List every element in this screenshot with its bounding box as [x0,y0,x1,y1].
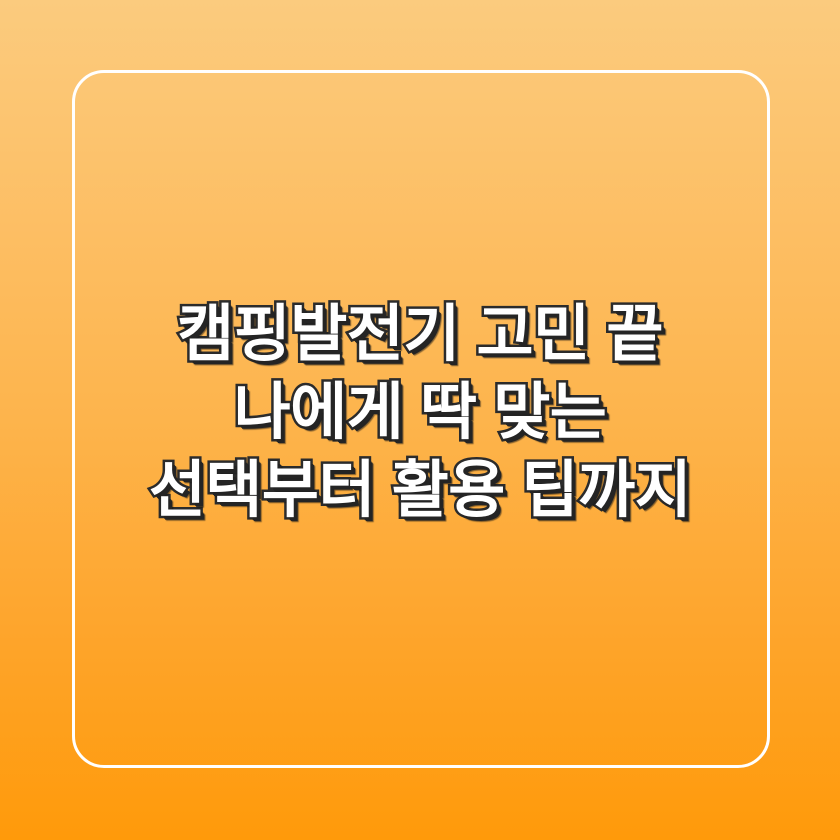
headline-line-1: 캠핑발전기 고민 끝 [177,296,663,374]
headline-line-2: 나에게 딱 맞는 [234,374,607,452]
thumbnail-card: 캠핑발전기 고민 끝 나에게 딱 맞는 선택부터 활용 팁까지 [0,0,840,840]
headline-text-block: 캠핑발전기 고민 끝 나에게 딱 맞는 선택부터 활용 팁까지 [60,296,780,530]
headline-line-3: 선택부터 활용 팁까지 [149,452,691,530]
